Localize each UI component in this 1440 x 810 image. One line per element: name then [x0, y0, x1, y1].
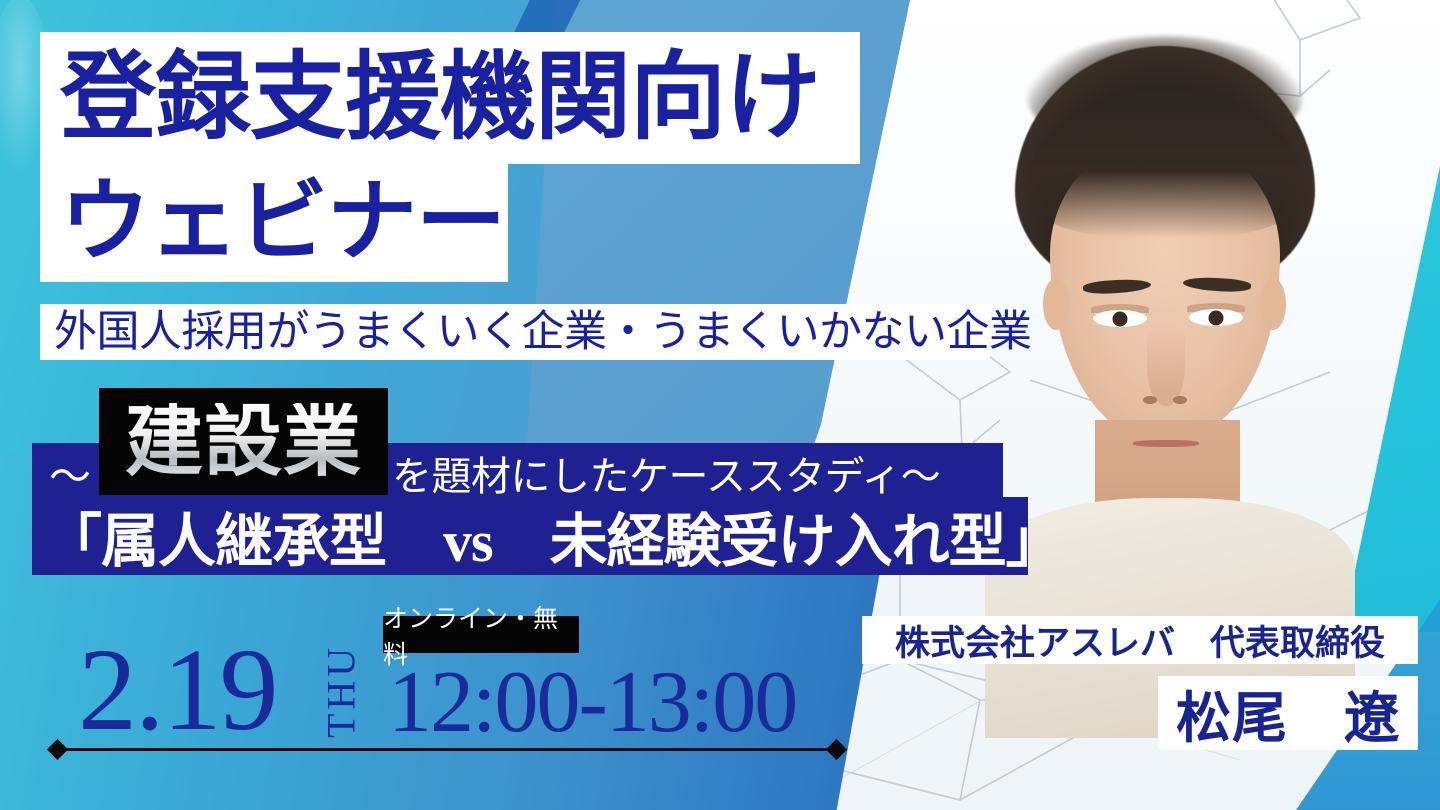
portrait-mouth	[1133, 440, 1199, 447]
subtitle-box: 外国人採用がうまくいく企業・うまくいかない企業	[40, 304, 990, 360]
title-line2-box: ウェビナー	[40, 164, 508, 282]
horizontal-rule	[62, 748, 834, 751]
format-badge: オンライン・無料	[383, 616, 579, 653]
speaker-name: 松尾 遼	[1176, 673, 1400, 753]
portrait-nostril-left	[1143, 396, 1157, 404]
portrait-nose	[1147, 328, 1185, 406]
event-time-range: 12:00-13:00	[388, 650, 796, 756]
webinar-banner: 登録支援機関向け ウェビナー 外国人採用がうまくいく企業・うまくいかない企業 〜…	[0, 0, 1440, 810]
event-day-of-week: THU	[318, 636, 364, 746]
industry-highlight-box: 建設業	[99, 388, 388, 495]
portrait-eye-left	[1093, 310, 1147, 327]
title-line1-box: 登録支援機関向け	[40, 32, 860, 164]
title-line1: 登録支援機関向け	[40, 50, 820, 146]
portrait-eye-right	[1189, 309, 1243, 326]
portrait-ear-right	[1260, 278, 1286, 330]
speaker-company-role: 株式会社アスレバ 代表取締役	[895, 615, 1385, 666]
subtitle: 外国人採用がうまくいく企業・うまくいかない企業	[40, 311, 1032, 354]
theme-line: 「属人継承型 vs 未経験受け入れ型」	[44, 500, 1063, 572]
portrait-ear-left	[1043, 278, 1069, 330]
portrait-nostril-right	[1173, 396, 1187, 404]
title-line2: ウェビナー	[40, 178, 505, 268]
speaker-name-box: 松尾 遼	[1158, 676, 1418, 750]
speaker-company-box: 株式会社アスレバ 代表取締役	[862, 616, 1418, 664]
industry-highlight-label: 建設業	[125, 403, 362, 481]
event-date: 2.19	[78, 630, 277, 750]
